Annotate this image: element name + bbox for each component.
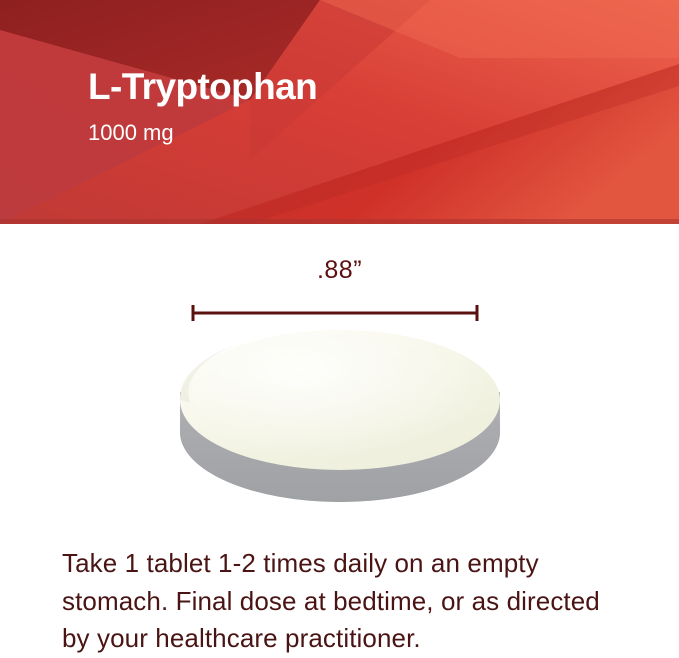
tablet-highlight: [180, 330, 500, 470]
tablet-image: [172, 322, 508, 512]
measurement-dimension-line: [0, 224, 679, 324]
page-title: L-Tryptophan: [88, 68, 317, 107]
size-measurement: .88”: [0, 224, 679, 324]
product-dosage: 1000 mg: [88, 121, 317, 145]
tablet-illustration: [172, 322, 508, 512]
banner-text-block: L-Tryptophan 1000 mg: [88, 68, 317, 145]
product-banner: L-Tryptophan 1000 mg: [0, 0, 679, 224]
directions-text: Take 1 tablet 1-2 times daily on an empt…: [62, 545, 622, 658]
